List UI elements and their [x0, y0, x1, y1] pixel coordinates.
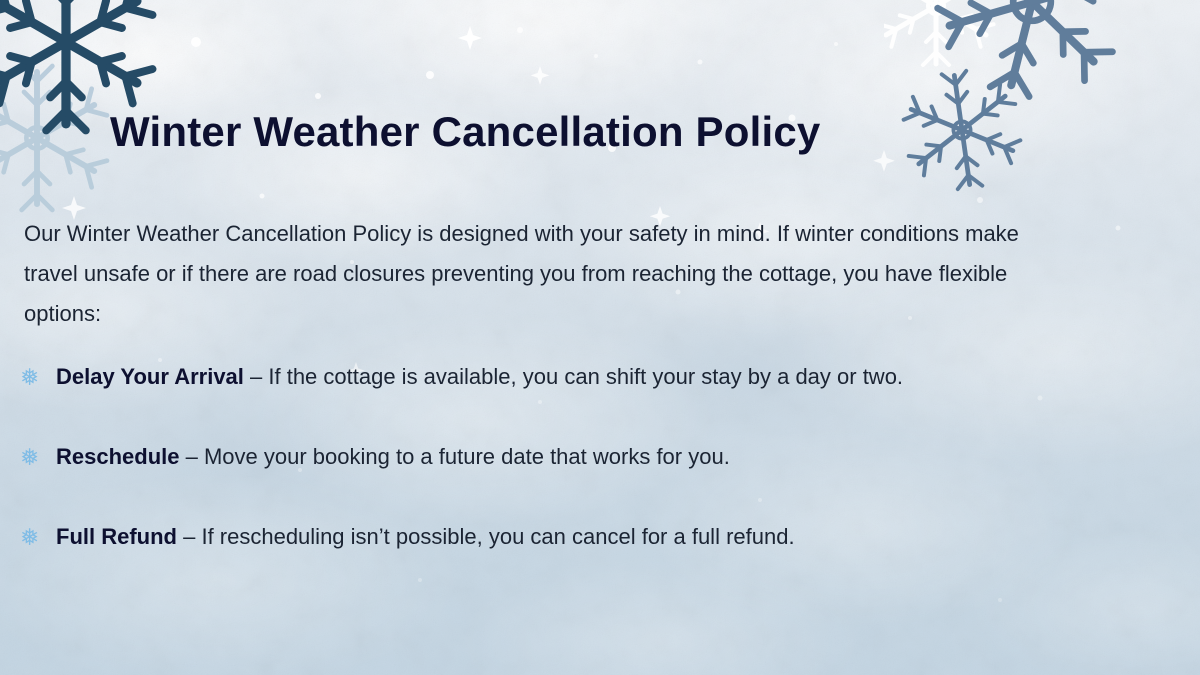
list-item-detail: Move your booking to a future date that … [204, 444, 730, 469]
policy-options-list: ❅ Delay Your Arrival – If the cottage is… [20, 362, 1180, 602]
list-item-text: Reschedule – Move your booking to a futu… [56, 442, 730, 472]
list-item-term: Full Refund [56, 524, 177, 549]
list-item: ❅ Full Refund – If rescheduling isn’t po… [20, 522, 1180, 602]
page-title: Winter Weather Cancellation Policy [110, 108, 821, 156]
slide: Winter Weather Cancellation Policy Our W… [0, 0, 1200, 675]
list-item-term: Delay Your Arrival [56, 364, 244, 389]
list-item-separator: – [244, 364, 268, 389]
list-item: ❅ Delay Your Arrival – If the cottage is… [20, 362, 1180, 442]
list-item-separator: – [180, 444, 204, 469]
snowflake-icon: ❅ [20, 526, 56, 549]
list-item-text: Full Refund – If rescheduling isn’t poss… [56, 522, 795, 552]
list-item-text: Delay Your Arrival – If the cottage is a… [56, 362, 903, 392]
list-item-detail: If the cottage is available, you can shi… [268, 364, 903, 389]
list-item-separator: – [177, 524, 201, 549]
intro-paragraph: Our Winter Weather Cancellation Policy i… [24, 214, 1024, 334]
list-item-detail: If rescheduling isn’t possible, you can … [201, 524, 794, 549]
snowflake-icon: ❅ [20, 366, 56, 389]
snowflake-icon: ❅ [20, 446, 56, 469]
list-item: ❅ Reschedule – Move your booking to a fu… [20, 442, 1180, 522]
list-item-term: Reschedule [56, 444, 180, 469]
